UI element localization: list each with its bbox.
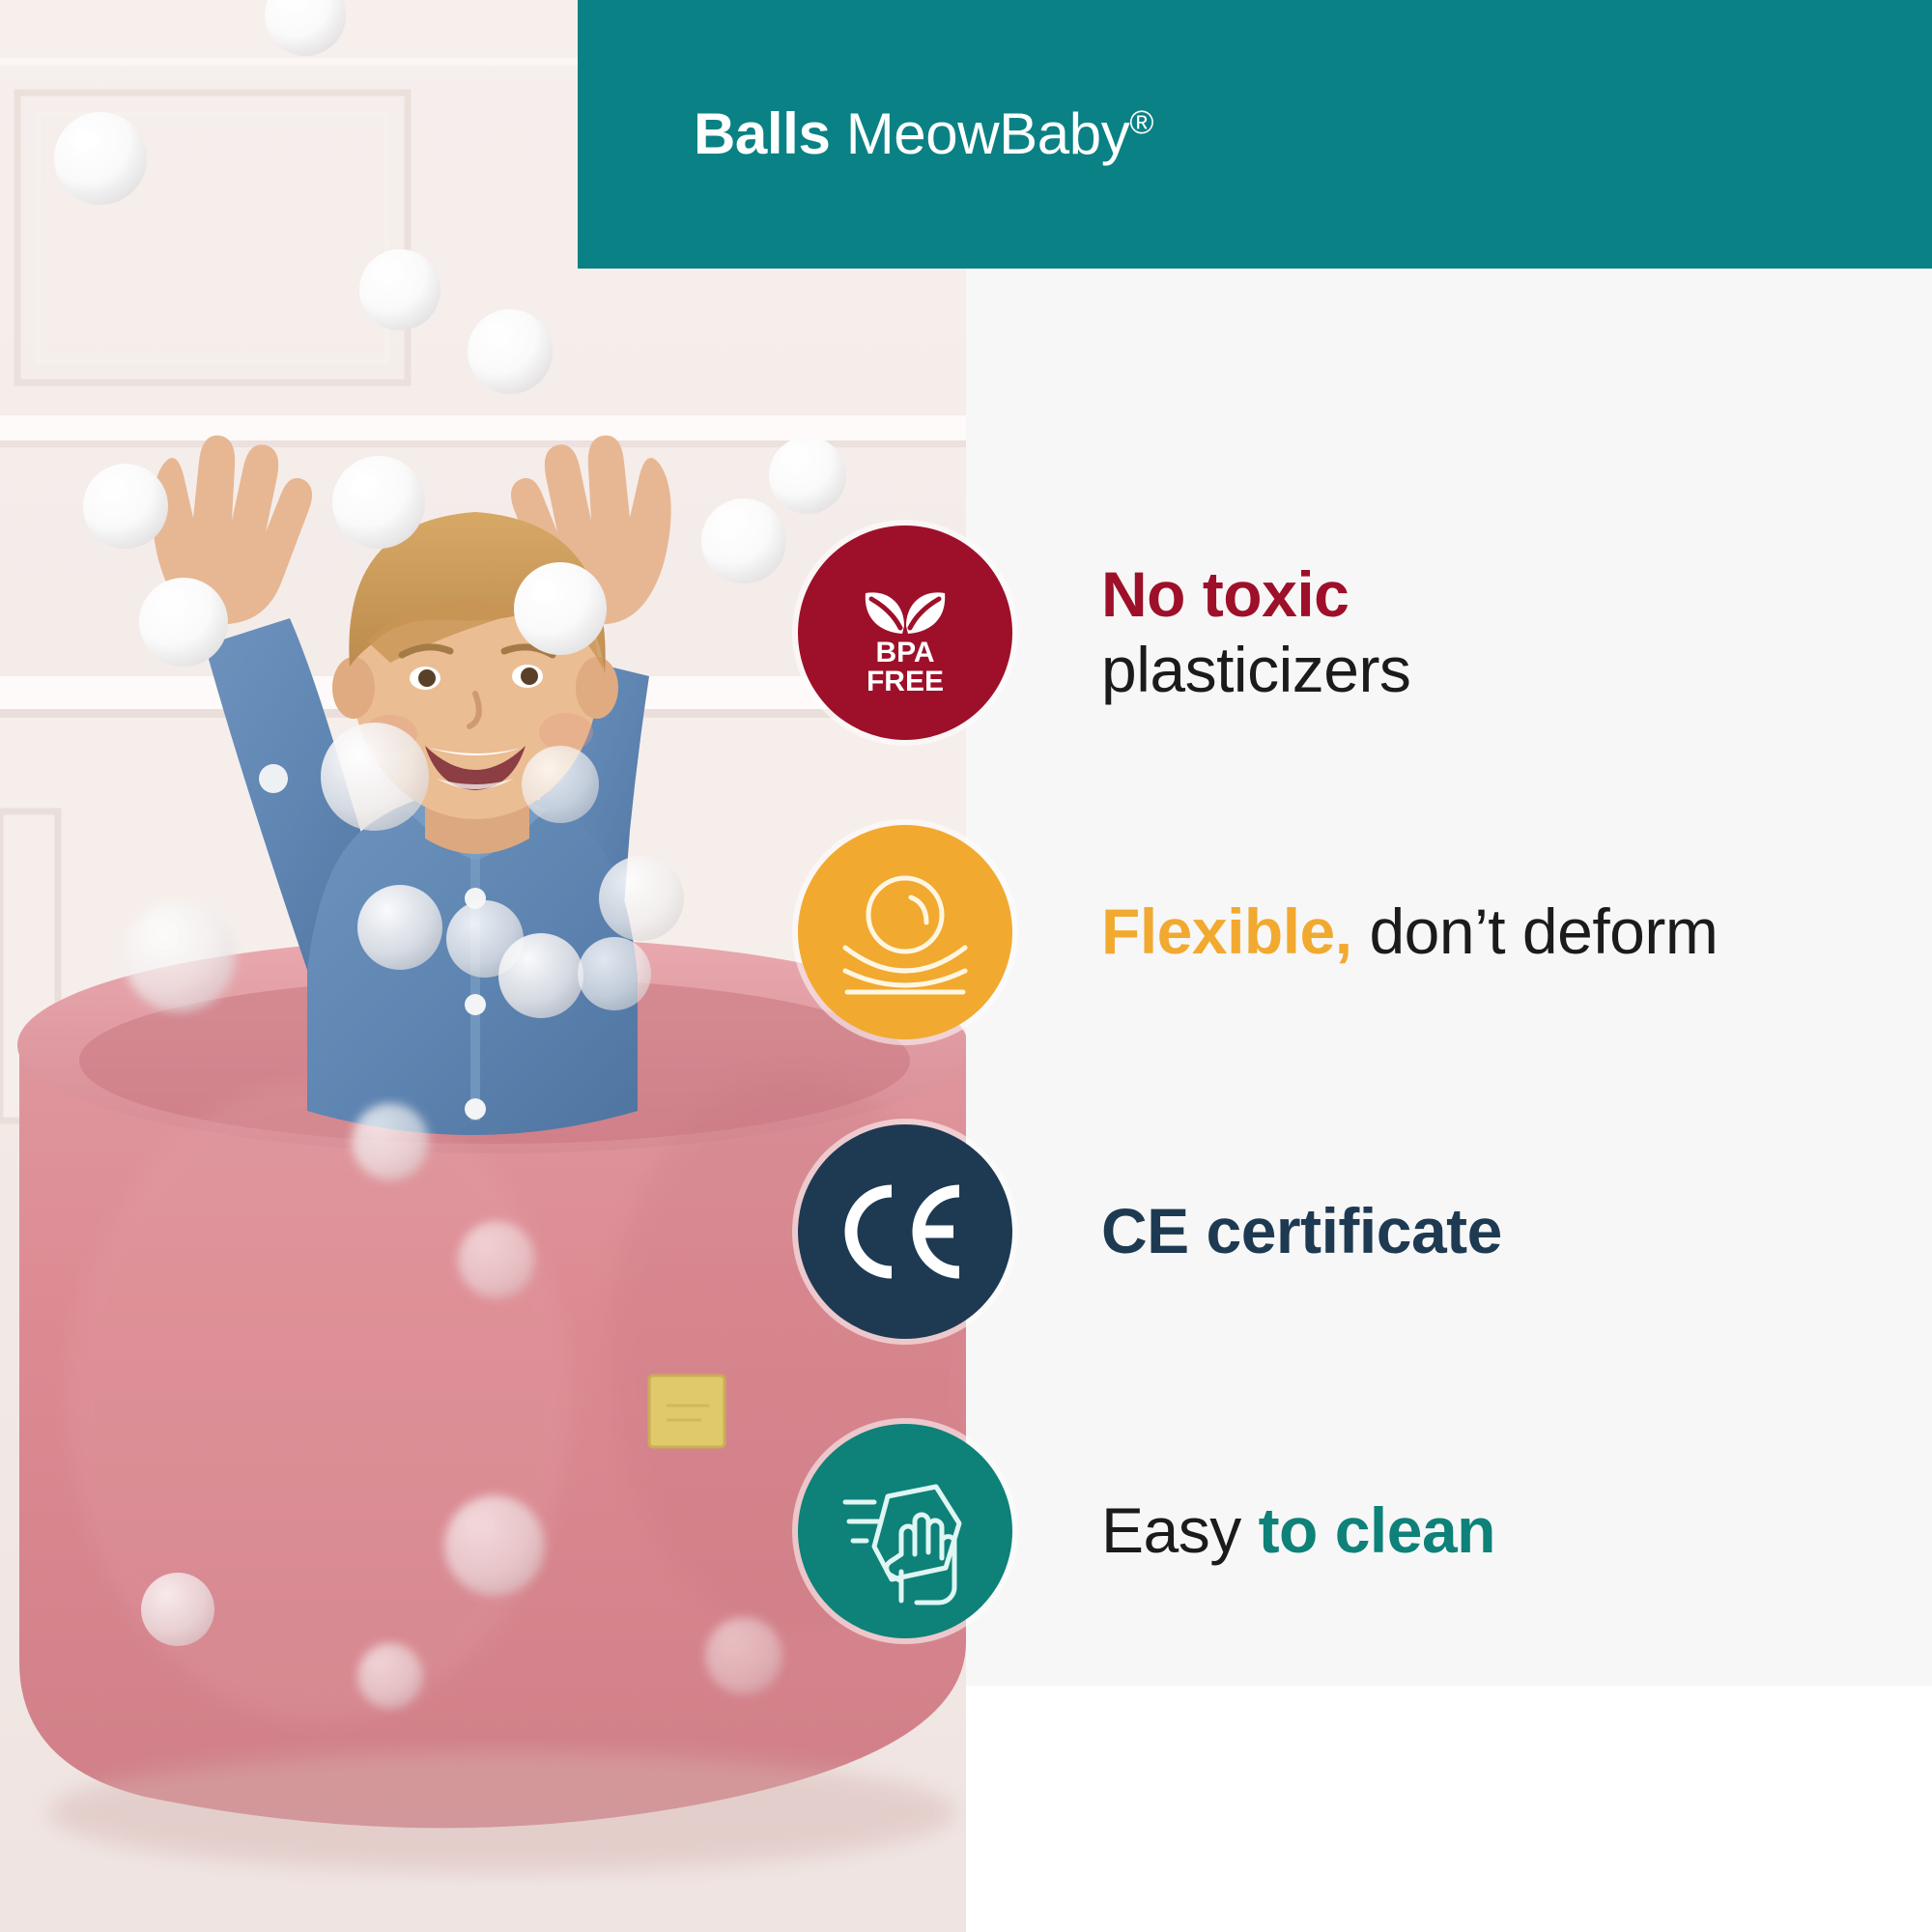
feature-label-ce: CE certificate <box>1101 1194 1502 1269</box>
flexible-ball-waves-icon <box>828 855 982 1009</box>
feature-rest: plasticizers <box>1101 634 1410 705</box>
feature-row-no-toxic: BPA FREE No toxic plasticizers <box>798 526 1880 740</box>
badge-easy-clean <box>798 1424 1012 1638</box>
bpa-label-line2: FREE <box>867 666 944 697</box>
feature-highlight: CE certificate <box>1101 1195 1502 1266</box>
bottom-white-block <box>966 1686 1932 1932</box>
feature-row-ce: CE certificate <box>798 1124 1880 1339</box>
feature-rest: don’t deform <box>1369 895 1718 967</box>
badge-flexible <box>798 825 1012 1039</box>
feature-rest: to clean <box>1259 1494 1495 1566</box>
title-bold-word: Balls <box>694 101 830 166</box>
badge-bpa-free: BPA FREE <box>798 526 1012 740</box>
feature-label-no-toxic: No toxic plasticizers <box>1101 557 1410 708</box>
feature-highlight: No toxic <box>1101 558 1349 630</box>
feature-label-flexible: Flexible, don’t deform <box>1101 895 1718 970</box>
feature-label-easy-clean: Easy to clean <box>1101 1493 1495 1569</box>
feature-highlight: Easy <box>1101 1494 1241 1566</box>
bpa-free-leaf-icon: BPA FREE <box>833 560 978 705</box>
feature-highlight: Flexible, <box>1101 895 1352 967</box>
badge-ce <box>798 1124 1012 1339</box>
feature-row-flexible: Flexible, don’t deform <box>798 825 1880 1039</box>
registered-trademark-icon: ® <box>1129 104 1153 141</box>
header-banner: Balls MeowBaby® <box>578 0 1932 269</box>
bpa-label-line1: BPA <box>875 637 934 668</box>
hand-wiping-cloth-icon <box>828 1454 982 1608</box>
feature-row-easy-clean: Easy to clean <box>798 1424 1880 1638</box>
page-title: Balls MeowBaby® <box>694 105 1153 163</box>
infographic-canvas: Balls MeowBaby® BPA FREE No toxic plasti… <box>0 0 1932 1932</box>
ce-mark-icon <box>828 1154 982 1309</box>
title-brand-word: MeowBaby <box>846 101 1130 166</box>
